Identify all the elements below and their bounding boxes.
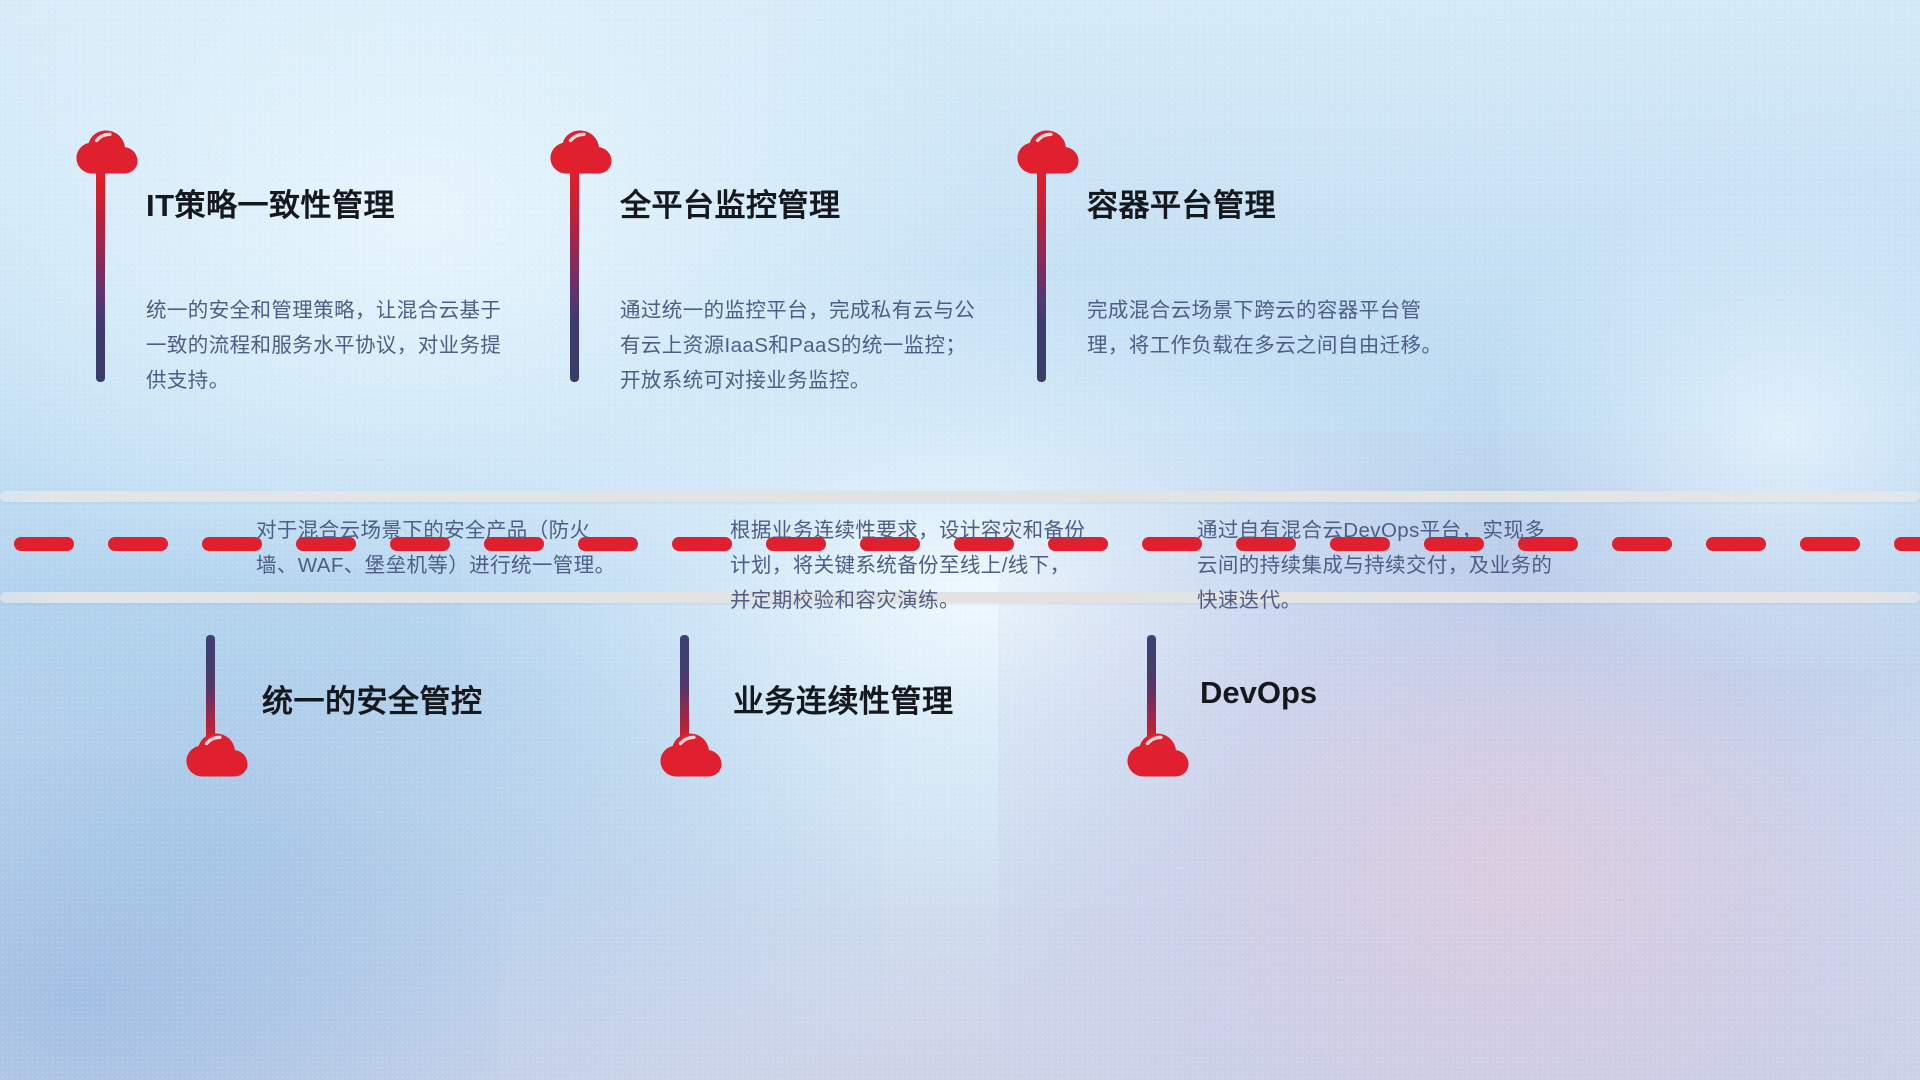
road-dash xyxy=(672,537,732,551)
column-title: 业务连续性管理 xyxy=(733,676,954,721)
column-body: 统一的安全和管理策略，让混合云基于一致的流程和服务水平协议，对业务提供支持。 xyxy=(146,293,506,398)
road-edge-top xyxy=(0,491,1920,502)
column-title: 全平台监控管理 xyxy=(620,180,841,225)
column-body: 通过自有混合云DevOps平台，实现多云间的持续集成与持续交付，及业务的快速迭代… xyxy=(1197,513,1557,618)
connector-stem xyxy=(1147,635,1156,747)
cloud-icon xyxy=(1127,733,1189,777)
cloud-icon xyxy=(1017,130,1079,174)
connector-stem xyxy=(96,170,105,382)
column-title: 统一的安全管控 xyxy=(262,676,483,721)
column-body: 完成混合云场景下跨云的容器平台管理，将工作负载在多云之间自由迁移。 xyxy=(1087,293,1447,363)
infographic-stage: IT策略一致性管理 统一的安全和管理策略，让混合云基于一致的流程和服务水平协议，… xyxy=(0,0,1920,1080)
road-dash xyxy=(108,537,168,551)
cloud-icon xyxy=(76,130,138,174)
road-dash xyxy=(202,537,262,551)
connector-stem xyxy=(680,635,689,747)
column-title: DevOps xyxy=(1200,675,1317,711)
connector-stem xyxy=(570,170,579,382)
cloud-icon xyxy=(186,733,248,777)
road-dash xyxy=(1706,537,1766,551)
column-body: 对于混合云场景下的安全产品（防火墙、WAF、堡垒机等）进行统一管理。 xyxy=(256,513,616,583)
road-dash xyxy=(1142,537,1202,551)
connector-stem xyxy=(1037,170,1046,382)
column-body: 根据业务连续性要求，设计容灾和备份计划，将关键系统备份至线上/线下，并定期校验和… xyxy=(730,513,1090,618)
column-title: 容器平台管理 xyxy=(1087,180,1276,225)
road-dash xyxy=(1800,537,1860,551)
cloud-icon xyxy=(550,130,612,174)
column-body: 通过统一的监控平台，完成私有云与公有云上资源IaaS和PaaS的统一监控；开放系… xyxy=(620,293,980,398)
connector-stem xyxy=(206,635,215,747)
column-title: IT策略一致性管理 xyxy=(146,180,395,225)
road-dash xyxy=(1612,537,1672,551)
cloud-icon xyxy=(660,733,722,777)
road-dash xyxy=(1894,537,1920,551)
road-dash xyxy=(14,537,74,551)
